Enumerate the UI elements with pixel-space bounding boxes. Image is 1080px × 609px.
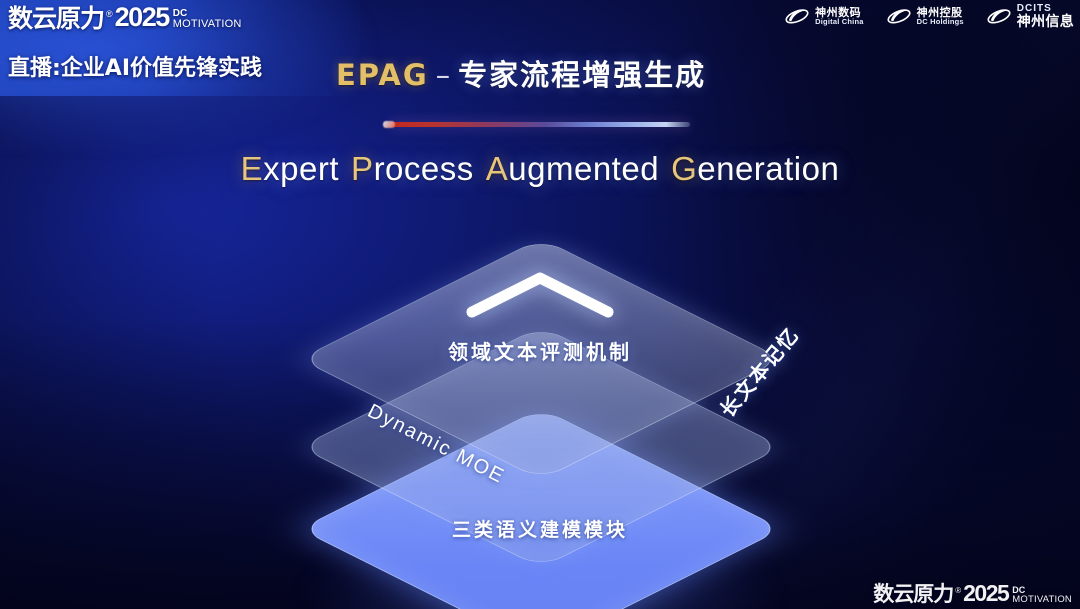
- subtitle-word-process: Process: [351, 150, 474, 187]
- brand-dc-motivation: DC MOTIVATION: [173, 9, 242, 30]
- page-title: EPAG–专家流程增强生成: [336, 52, 706, 94]
- partner-logo-group: 神州数码 Digital China 神州控股 DC Holdings: [784, 4, 1074, 29]
- partner-logo-text: DCITS 神州信息: [1017, 4, 1074, 29]
- partner-name-en: DCITS: [1017, 4, 1074, 15]
- partner-logo-dcits: DCITS 神州信息: [986, 4, 1074, 29]
- subtitle-word-expert: Expert: [241, 150, 339, 187]
- diagram-label-bottom: 三类语义建模模块: [452, 515, 628, 542]
- brand-name-cn: 数云原力: [8, 6, 104, 31]
- partner-logo-digital-china: 神州数码 Digital China: [784, 5, 863, 29]
- watermark-year: 2025: [963, 582, 1008, 605]
- brand-registered-mark: ®: [106, 10, 113, 19]
- partner-name-en: Digital China: [815, 18, 863, 26]
- brand-year: 2025: [115, 4, 169, 31]
- diagram-label-top: 领域文本评测机制: [448, 336, 632, 365]
- slide-canvas: 数云原力 ® 2025 DC MOTIVATION 直播:企业AI价值先锋实践 …: [0, 0, 1080, 609]
- live-stream-title: 直播:企业AI价值先锋实践: [8, 50, 262, 82]
- swirl-orbit-icon: [784, 5, 810, 29]
- partner-logo-dc-holdings: 神州控股 DC Holdings: [886, 5, 964, 29]
- chevron-up-icon: [462, 268, 618, 320]
- title-chinese: 专家流程增强生成: [458, 58, 706, 92]
- gradient-divider: [390, 122, 690, 127]
- partner-name-en: DC Holdings: [917, 18, 964, 26]
- watermark-registered-mark: ®: [955, 587, 961, 595]
- brand-motivation-label: MOTIVATION: [173, 19, 242, 30]
- watermark-name-cn: 数云原力: [873, 584, 953, 605]
- watermark-motivation-label: MOTIVATION: [1012, 595, 1072, 605]
- title-dash: –: [429, 58, 459, 92]
- watermark-brand-logo: 数云原力 ® 2025 DC MOTIVATION: [873, 582, 1072, 605]
- title-acronym: EPAG: [336, 58, 429, 92]
- watermark-dc-motivation: DC MOTIVATION: [1012, 586, 1072, 605]
- partner-name-cn: 神州信息: [1017, 15, 1074, 30]
- subtitle-word-generation: Generation: [671, 150, 839, 187]
- swirl-orbit-icon: [986, 5, 1012, 29]
- partner-logo-text: 神州数码 Digital China: [815, 7, 863, 26]
- brand-logo: 数云原力 ® 2025 DC MOTIVATION: [8, 4, 242, 31]
- partner-logo-text: 神州控股 DC Holdings: [917, 7, 964, 26]
- subtitle-expansion: ExpertProcessAugmentedGeneration: [0, 150, 1080, 188]
- swirl-orbit-icon: [886, 5, 912, 29]
- gradient-divider-tip: [383, 121, 395, 128]
- subtitle-word-augmented: Augmented: [486, 150, 659, 187]
